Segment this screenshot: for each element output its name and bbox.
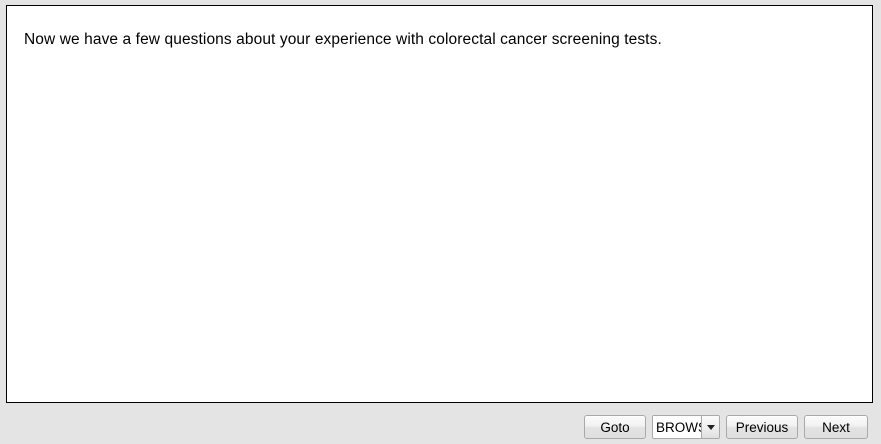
survey-application-window: Now we have a few questions about your e… — [0, 0, 881, 444]
mode-select-arrow-button[interactable] — [701, 416, 719, 438]
question-text: Now we have a few questions about your e… — [24, 30, 662, 50]
mode-select[interactable]: BROWS — [652, 415, 720, 439]
previous-button[interactable]: Previous — [726, 415, 798, 439]
question-panel: Now we have a few questions about your e… — [6, 5, 873, 403]
goto-button[interactable]: Goto — [584, 415, 646, 439]
next-button[interactable]: Next — [804, 415, 868, 439]
chevron-down-icon — [707, 425, 715, 430]
bottom-toolbar: Goto BROWS Previous Next — [0, 404, 881, 444]
navigation-controls: Goto BROWS Previous Next — [584, 415, 868, 439]
mode-select-value[interactable]: BROWS — [653, 416, 701, 438]
